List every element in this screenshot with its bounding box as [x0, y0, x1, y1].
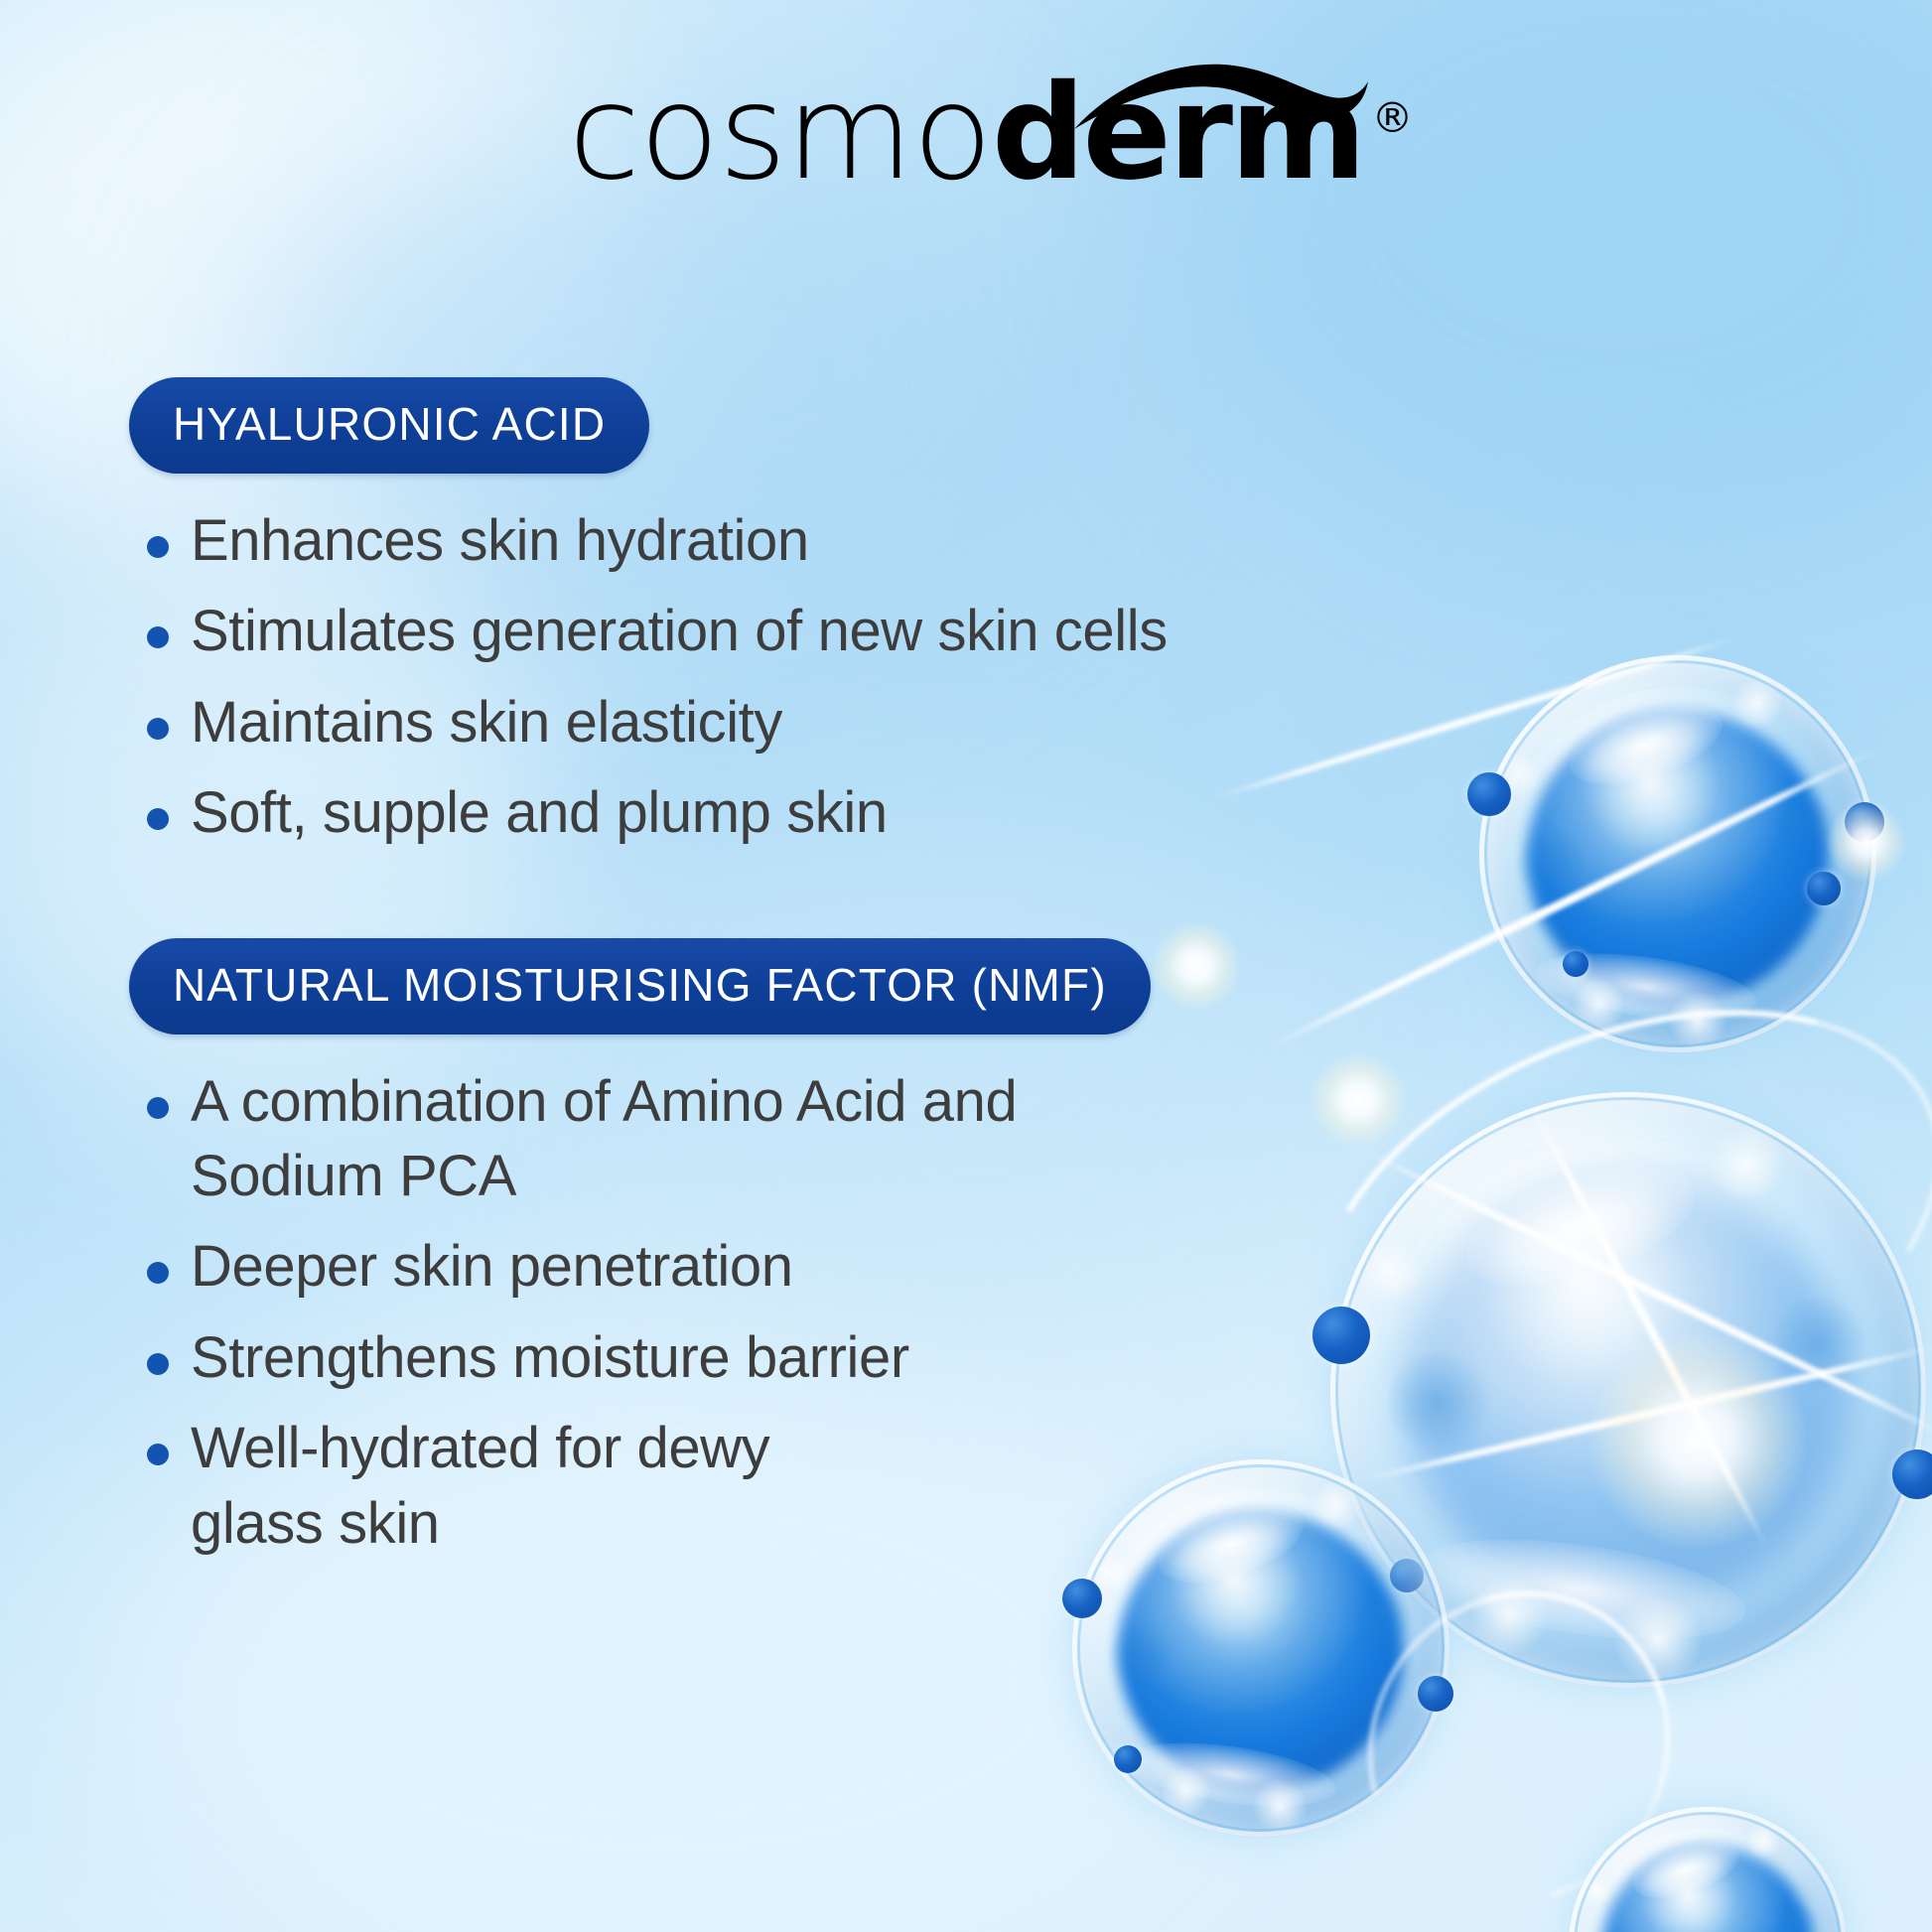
- section-natural-moisturising-factor: NATURAL MOISTURISING FACTOR (NMF) A comb…: [129, 938, 1449, 1561]
- water-droplet: [1467, 772, 1511, 816]
- benefit-list-nmf: A combination of Amino Acid and Sodium P…: [129, 1064, 1449, 1561]
- list-item: Stimulates generation of new skin cells: [129, 594, 1449, 668]
- brand-swoosh-icon: [1072, 62, 1370, 133]
- brand-wordmark-light: cosmo: [568, 57, 991, 209]
- section-hyaluronic-acid: HYALURONIC ACID Enhances skin hydration …: [129, 377, 1449, 851]
- light-flare: [1588, 1330, 1807, 1549]
- list-item: Enhances skin hydration: [129, 503, 1449, 578]
- water-droplet: [1062, 1579, 1102, 1618]
- sphere-rim: [1479, 655, 1876, 1052]
- list-item: Deeper skin penetration: [129, 1229, 1449, 1304]
- list-item: Well-hydrated for dewy glass skin: [129, 1411, 1449, 1561]
- list-item: A combination of Amino Acid and Sodium P…: [129, 1064, 1449, 1214]
- water-droplet: [1114, 1745, 1142, 1773]
- water-droplet: [1563, 951, 1588, 977]
- water-droplet: [1807, 872, 1841, 905]
- ingredient-benefits: HYALURONIC ACID Enhances skin hydration …: [129, 377, 1449, 1577]
- list-item: Maintains skin elasticity: [129, 685, 1449, 759]
- brand-logo: cosmoderm ®: [0, 68, 1932, 199]
- list-item: Strengthens moisture barrier: [129, 1320, 1449, 1395]
- badge-natural-moisturising-factor[interactable]: NATURAL MOISTURISING FACTOR (NMF): [129, 938, 1151, 1035]
- list-item: Soft, supple and plump skin: [129, 775, 1449, 850]
- light-flare: [1827, 802, 1906, 882]
- water-sphere-top-right: [1479, 655, 1876, 1052]
- benefit-list-hyaluronic-acid: Enhances skin hydration Stimulates gener…: [129, 503, 1449, 851]
- badge-hyaluronic-acid[interactable]: HYALURONIC ACID: [129, 377, 649, 474]
- registered-mark-icon: ®: [1372, 93, 1414, 142]
